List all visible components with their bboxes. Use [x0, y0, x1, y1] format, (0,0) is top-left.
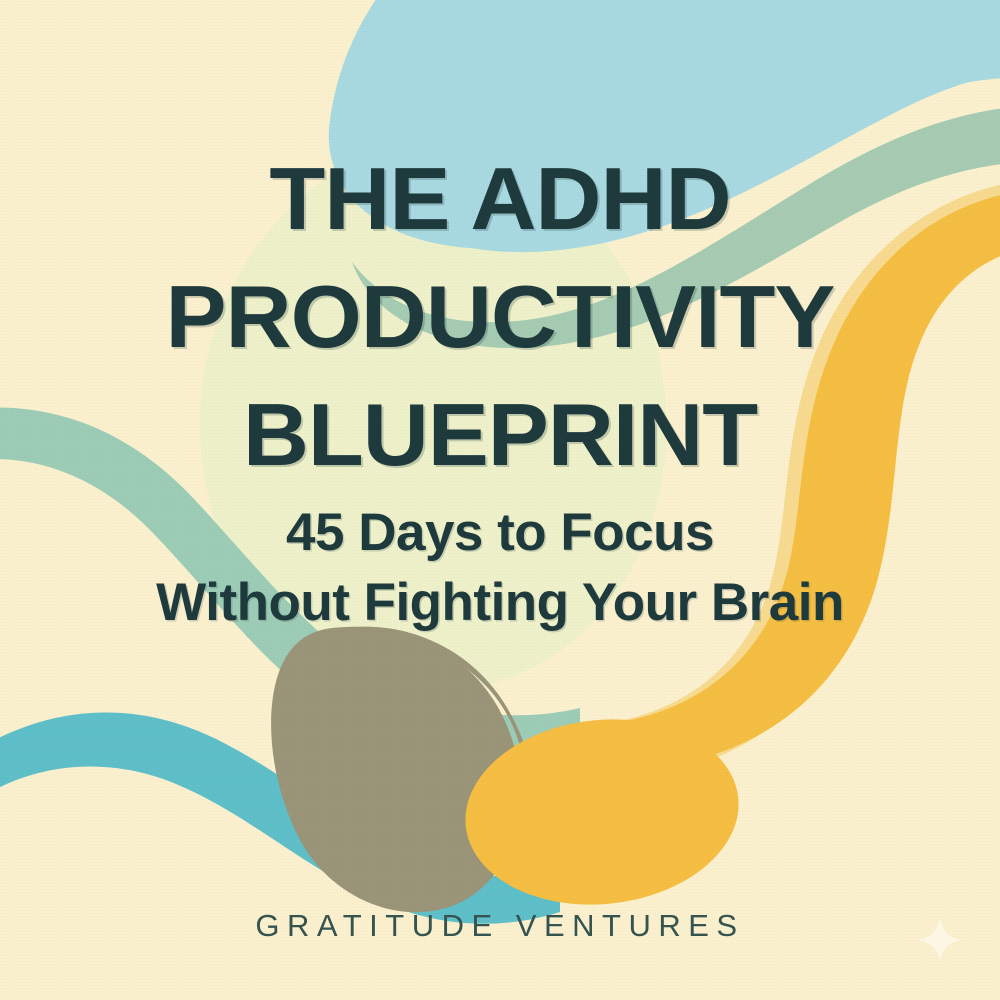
- title-line-3: BLUEPRINT: [0, 376, 1000, 494]
- cover-title: THE ADHD PRODUCTIVITY BLUEPRINT: [0, 140, 1000, 494]
- book-cover: THE ADHD PRODUCTIVITY BLUEPRINT 45 Days …: [0, 0, 1000, 1000]
- publisher-name: GRATITUDE VENTURES: [0, 908, 1000, 944]
- title-line-1: THE ADHD: [0, 140, 1000, 258]
- sparkle-icon: [916, 916, 964, 964]
- title-line-2: PRODUCTIVITY: [0, 258, 1000, 376]
- subtitle-line-2: Without Fighting Your Brain: [0, 568, 1000, 638]
- subtitle-line-1: 45 Days to Focus: [0, 498, 1000, 568]
- publisher-block: GRATITUDE VENTURES: [0, 908, 1000, 944]
- cover-subtitle: 45 Days to Focus Without Fighting Your B…: [0, 498, 1000, 638]
